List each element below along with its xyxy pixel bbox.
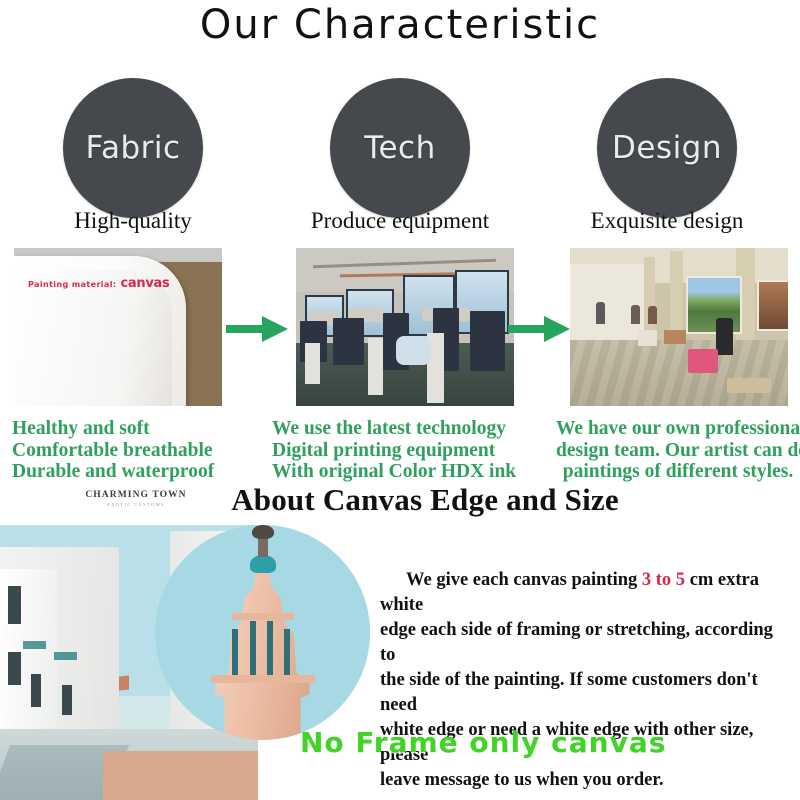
feature-captions-row: High-quality Produce equipment Exquisite… [0, 208, 800, 240]
circle-label-fabric: Fabric [85, 130, 180, 166]
arrow-head [262, 316, 288, 342]
feature-photos-row: Painting material: canvas [0, 248, 800, 408]
circle-label-design: Design [612, 130, 722, 166]
stool [638, 330, 658, 346]
description-line: We use the latest technology [272, 418, 538, 440]
description-line: design team. Our artist can design [556, 440, 800, 462]
canvas-material-photo: Painting material: canvas [14, 248, 222, 406]
description-line: Comfortable breathable [12, 440, 272, 462]
overlay-label-small: Painting material: [28, 280, 116, 289]
brand-logo: CHARMING TOWN EXOTIC CUSTOMS [80, 490, 192, 507]
person-figure [648, 306, 657, 323]
balcony [54, 652, 77, 660]
cardboard-box [727, 378, 771, 394]
street-lamp-arm [75, 663, 93, 669]
paragraph-line-3: the side of the painting. If some custom… [380, 668, 790, 718]
description-line: Healthy and soft [12, 418, 272, 440]
window [31, 674, 41, 707]
circle-badge-fabric: Fabric [63, 78, 203, 218]
description-line: paintings of different styles. [556, 461, 800, 483]
canvas-photo-overlay-text: Painting material: canvas [28, 274, 169, 292]
foreground-wall [103, 751, 258, 800]
arrow-head [544, 316, 570, 342]
art-studio-photo [570, 248, 788, 406]
paragraph-text-pre: We give each canvas painting [406, 570, 642, 590]
tower-dome [250, 555, 276, 573]
supply-cart [688, 349, 719, 373]
feature-descriptions-row: Healthy and soft Comfortable breathable … [0, 418, 800, 484]
printer-unit [333, 318, 364, 365]
tower-column [267, 621, 273, 677]
feature-column-design: Design [534, 78, 800, 218]
window [8, 652, 21, 685]
no-frame-note: No Frame only canvas [300, 726, 666, 759]
description-tech: We use the latest technology Digital pri… [272, 418, 538, 483]
caption-exquisite-design: Exquisite design [534, 208, 800, 234]
description-fabric: Healthy and soft Comfortable breathable … [12, 418, 272, 483]
balcony [23, 641, 46, 649]
description-line: We have our own professional [556, 418, 800, 440]
feature-column-fabric: Fabric [0, 78, 266, 218]
description-design: We have our own professional design team… [556, 418, 800, 483]
studio-illustration [570, 248, 788, 406]
canvas-edge-paragraph: We give each canvas painting 3 to 5 cm e… [380, 568, 790, 793]
description-line: Durable and waterproof [12, 461, 272, 483]
paragraph-line-5: leave message to us when you order. [380, 768, 790, 793]
artist-figure [716, 318, 733, 356]
table [664, 330, 686, 344]
description-line: Digital printing equipment [272, 440, 538, 462]
promo-page: Our Characteristic Fabric Tech Design Hi… [0, 0, 800, 800]
workshop-illustration [296, 248, 514, 406]
window [8, 586, 21, 625]
landscape-painting [686, 276, 742, 334]
wall-painting [757, 280, 788, 331]
paragraph-highlight: 3 to 5 [642, 570, 685, 590]
printing-workshop-photo [296, 248, 514, 406]
brand-logo-subtitle: EXOTIC CUSTOMS [80, 502, 192, 507]
section2-header: CHARMING TOWN EXOTIC CUSTOMS About Canva… [0, 486, 800, 526]
flow-arrow-1 [226, 316, 290, 342]
tower-cornice [232, 613, 294, 620]
section2-title: About Canvas Edge and Size [190, 482, 660, 518]
flow-arrow-2 [508, 316, 572, 342]
printer-panel [368, 338, 383, 395]
studio-floor [570, 340, 788, 406]
tower-column [250, 621, 256, 677]
circle-badge-tech: Tech [330, 78, 470, 218]
paragraph-line-1: We give each canvas painting 3 to 5 cm e… [380, 568, 790, 618]
circle-label-tech: Tech [364, 130, 435, 166]
person-figure [631, 305, 640, 324]
paragraph-line-2: edge each side of framing or stretching,… [380, 618, 790, 668]
tower-column [232, 629, 238, 677]
canvas-roll-illustration: Painting material: canvas [14, 248, 222, 406]
tower-zoom-inset [155, 525, 370, 740]
feature-column-tech: Tech [267, 78, 533, 218]
page-title: Our Characteristic [0, 2, 800, 48]
weather-vane-icon [252, 525, 274, 539]
window [62, 685, 72, 715]
tower-column [284, 629, 290, 677]
overlay-label-big: canvas [120, 276, 169, 291]
printed-canvas-output [396, 336, 431, 364]
person-figure [596, 302, 605, 324]
brand-logo-title: CHARMING TOWN [80, 490, 192, 500]
caption-produce-equipment: Produce equipment [267, 208, 533, 234]
printer-unit [470, 311, 505, 371]
tower-cornice [211, 675, 315, 683]
description-line: With original Color HDX ink [272, 461, 538, 483]
circle-badge-design: Design [597, 78, 737, 218]
caption-high-quality: High-quality [0, 208, 266, 234]
printer-panel [305, 343, 320, 384]
